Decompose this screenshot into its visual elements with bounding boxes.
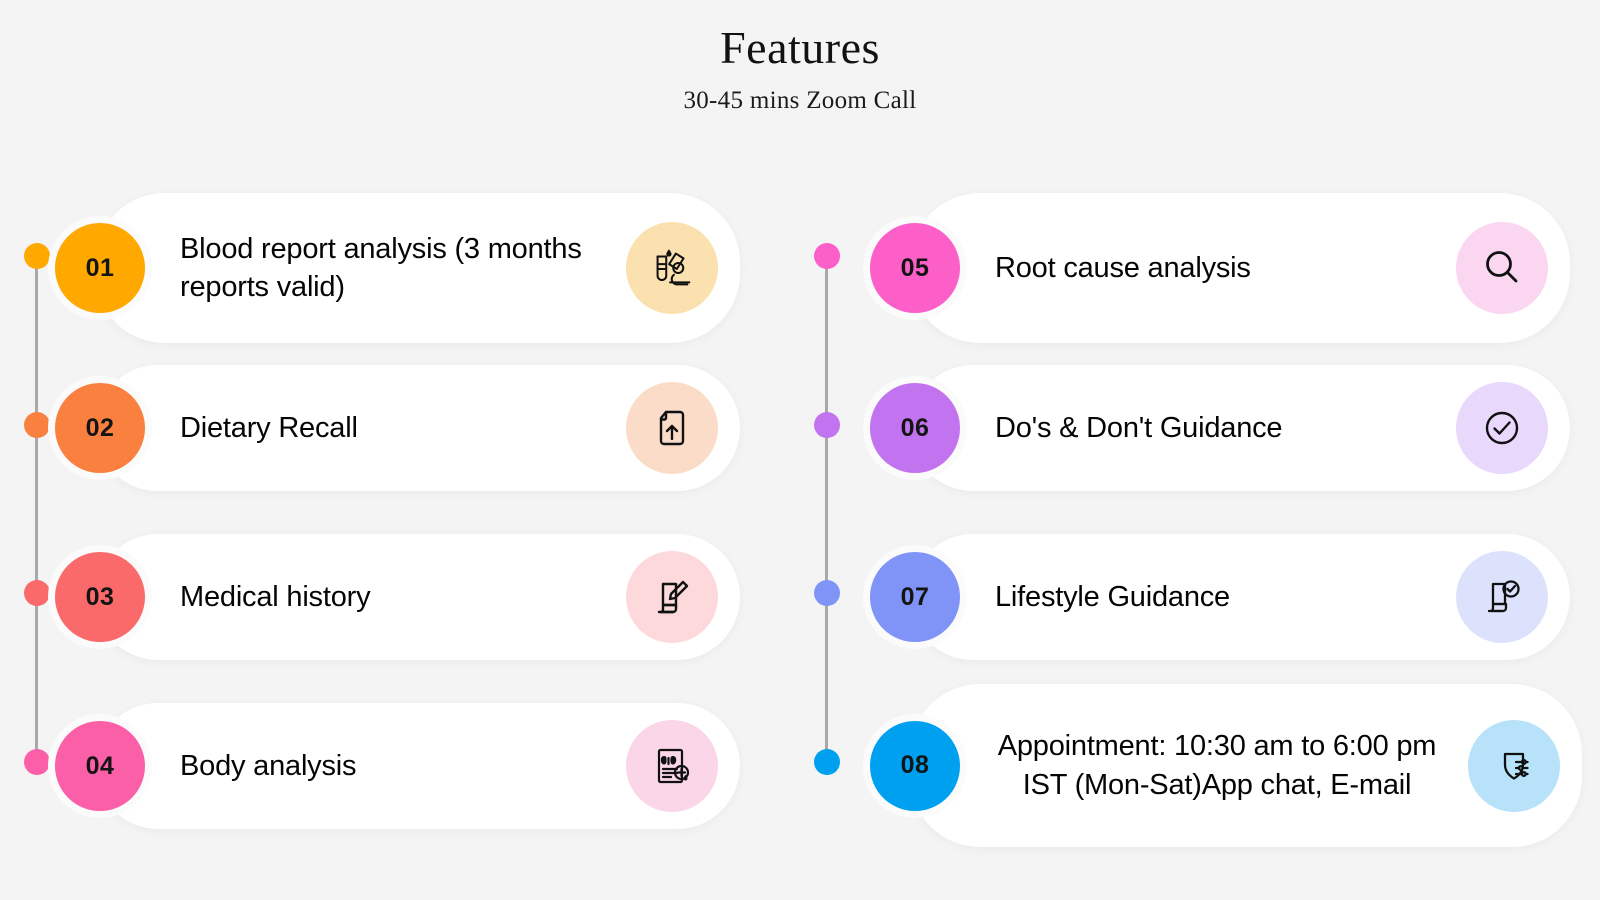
page-header: Features 30-45 mins Zoom Call [0, 0, 1600, 115]
feature-number-02: 02 [48, 376, 152, 480]
timeline-dot-07 [814, 580, 840, 606]
timeline-dot-08 [814, 749, 840, 775]
document-check-icon [1456, 551, 1548, 643]
feature-label-01: Blood report analysis (3 months reports … [95, 230, 626, 307]
timeline-line [825, 255, 828, 765]
feature-label-08: Appointment: 10:30 am to 6:00 pm IST (Mo… [910, 727, 1468, 804]
left-timeline [24, 160, 50, 860]
feature-card-01[interactable]: 01 Blood report analysis (3 months repor… [95, 193, 740, 343]
feature-number-01: 01 [48, 216, 152, 320]
feature-label-06: Do's & Don't Guidance [910, 409, 1456, 447]
feature-label-02: Dietary Recall [95, 409, 626, 447]
microscope-icon [626, 222, 718, 314]
feature-number-05: 05 [863, 216, 967, 320]
feature-card-02[interactable]: 02 Dietary Recall [95, 365, 740, 491]
feature-number-06: 06 [863, 376, 967, 480]
page-subtitle: 30-45 mins Zoom Call [0, 87, 1600, 115]
document-edit-icon [626, 551, 718, 643]
feature-label-07: Lifestyle Guidance [910, 578, 1456, 616]
feature-card-08[interactable]: 08 Appointment: 10:30 am to 6:00 pm IST … [910, 684, 1582, 847]
feature-number-04: 04 [48, 714, 152, 818]
search-icon [1456, 222, 1548, 314]
timeline-dot-02 [24, 412, 50, 438]
kidney-report-icon [626, 720, 718, 812]
right-timeline [814, 160, 840, 860]
timeline-dot-01 [24, 243, 50, 269]
feature-card-07[interactable]: 07 Lifestyle Guidance [910, 534, 1570, 660]
page-title: Features [0, 22, 1600, 75]
timeline-dot-06 [814, 412, 840, 438]
left-column: 01 Blood report analysis (3 months repor… [0, 160, 800, 880]
feature-label-04: Body analysis [95, 747, 626, 785]
feature-number-07: 07 [863, 545, 967, 649]
feature-card-04[interactable]: 04 Body analysis [95, 703, 740, 829]
feature-card-05[interactable]: 05 Root cause analysis [910, 193, 1570, 343]
check-circle-icon [1456, 382, 1548, 474]
features-columns: 01 Blood report analysis (3 months repor… [0, 160, 1600, 880]
feature-card-06[interactable]: 06 Do's & Don't Guidance [910, 365, 1570, 491]
feature-label-05: Root cause analysis [910, 249, 1456, 287]
shield-settings-icon [1468, 720, 1560, 812]
timeline-line [35, 255, 38, 765]
feature-number-03: 03 [48, 545, 152, 649]
right-column: 05 Root cause analysis 06 Do's & Don't G… [800, 160, 1600, 880]
feature-card-03[interactable]: 03 Medical history [95, 534, 740, 660]
timeline-dot-04 [24, 749, 50, 775]
timeline-dot-03 [24, 580, 50, 606]
feature-number-08: 08 [863, 714, 967, 818]
timeline-dot-05 [814, 243, 840, 269]
feature-label-03: Medical history [95, 578, 626, 616]
document-upload-icon [626, 382, 718, 474]
